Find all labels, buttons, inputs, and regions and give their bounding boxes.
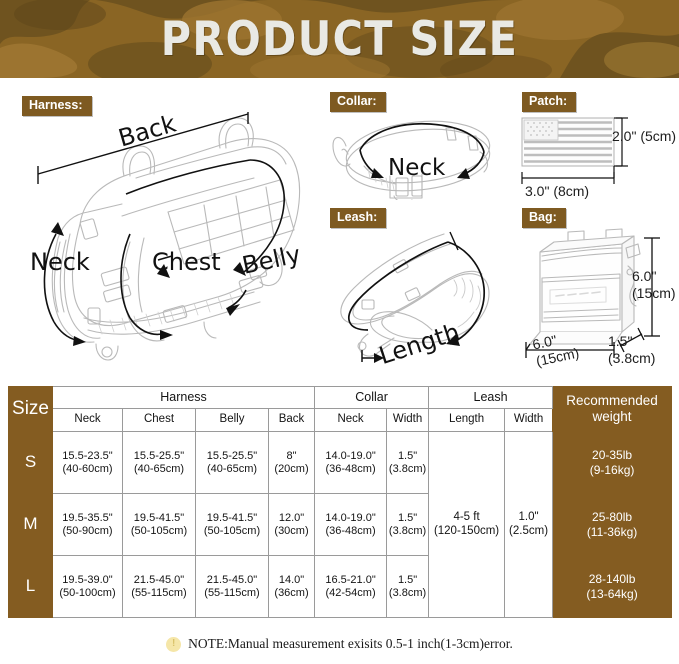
cell-leash-length-merged: 4-5 ft (120-150cm) bbox=[429, 432, 505, 618]
value-cm: (50-105cm) bbox=[204, 525, 260, 537]
value-inch: 19.5-41.5" bbox=[134, 512, 184, 524]
cell-s-harness-neck: 15.5-23.5" (40-60cm) bbox=[53, 432, 123, 494]
value-weight-lb: 25-80lb bbox=[592, 510, 632, 524]
value-inch: 14.0-19.0" bbox=[325, 450, 375, 462]
value-inch: 1.5" bbox=[398, 450, 417, 462]
value-cm: (40-65cm) bbox=[207, 463, 257, 475]
value-cm: (42-54cm) bbox=[325, 587, 375, 599]
cell-m-harness-back: 12.0" (30cm) bbox=[269, 494, 315, 556]
row-size-m: M bbox=[9, 494, 53, 556]
table-row: L 19.5-39.0" (50-100cm) 21.5-45.0" (55-1… bbox=[9, 556, 672, 618]
harness-chest-label: Chest bbox=[152, 248, 221, 276]
leash-badge: Leash: bbox=[330, 208, 386, 228]
row-size-s: S bbox=[9, 432, 53, 494]
value-cm: (55-115cm) bbox=[131, 587, 186, 599]
bag-depth-dimension: 1.5" (3.8cm) bbox=[608, 333, 655, 367]
value-inch: 1.5" bbox=[398, 512, 417, 524]
cell-m-harness-belly: 19.5-41.5" (50-105cm) bbox=[196, 494, 269, 556]
value-leash-width-cm: (2.5cm) bbox=[509, 525, 548, 537]
value-cm: (3.8cm) bbox=[389, 587, 426, 599]
note-text: NOTE:Manual measurement exisits 0.5-1 in… bbox=[188, 636, 513, 652]
cell-l-harness-neck: 19.5-39.0" (50-100cm) bbox=[53, 556, 123, 618]
value-leash-length-ft: 4-5 ft bbox=[453, 511, 479, 523]
value-inch: 19.5-39.0" bbox=[62, 574, 112, 586]
subheader-leash-length: Length bbox=[429, 409, 505, 432]
value-leash-length-cm: (120-150cm) bbox=[434, 525, 499, 537]
value-cm: (36cm) bbox=[274, 587, 308, 599]
cell-l-harness-chest: 21.5-45.0" (55-115cm) bbox=[123, 556, 196, 618]
table-row: S 15.5-23.5" (40-60cm) 15.5-25.5" (40-65… bbox=[9, 432, 672, 494]
value-cm: (55-115cm) bbox=[204, 587, 259, 599]
recommended-weight-header-line1: Recommended bbox=[566, 393, 658, 408]
cell-m-collar-width: 1.5" (3.8cm) bbox=[387, 494, 429, 556]
bag-depth-line1: 1.5" bbox=[608, 333, 632, 349]
cell-s-harness-belly: 15.5-25.5" (40-65cm) bbox=[196, 432, 269, 494]
value-inch: 15.5-25.5" bbox=[207, 450, 257, 462]
cell-l-recommended-weight: 28-140lb (13-64kg) bbox=[553, 556, 672, 618]
cell-s-harness-back: 8" (20cm) bbox=[269, 432, 315, 494]
table-header-group-row: Size Harness Collar Leash Recommended we… bbox=[9, 387, 672, 409]
leash-group-header: Leash bbox=[429, 387, 553, 409]
product-size-page: PRODUCT SIZE Harness: bbox=[0, 0, 679, 664]
cell-m-collar-neck: 14.0-19.0" (36-48cm) bbox=[315, 494, 387, 556]
cell-s-harness-chest: 15.5-25.5" (40-65cm) bbox=[123, 432, 196, 494]
value-inch: 21.5-45.0" bbox=[207, 574, 257, 586]
value-cm: (40-60cm) bbox=[62, 463, 112, 475]
bag-height-line2: (15cm) bbox=[632, 285, 676, 301]
warning-icon: ! bbox=[166, 637, 181, 652]
patch-height-dimension: 2.0" (5cm) bbox=[612, 128, 676, 144]
value-inch: 12.0" bbox=[279, 512, 304, 524]
bag-depth-line2: (3.8cm) bbox=[608, 350, 655, 366]
patch-badge: Patch: bbox=[522, 92, 576, 112]
value-inch: 21.5-45.0" bbox=[134, 574, 184, 586]
page-title: PRODUCT SIZE bbox=[41, 0, 639, 78]
value-inch: 15.5-25.5" bbox=[134, 450, 184, 462]
value-inch: 14.0-19.0" bbox=[325, 512, 375, 524]
harness-group-header: Harness bbox=[53, 387, 315, 409]
subheader-collar-width: Width bbox=[387, 409, 429, 432]
value-weight-lb: 20-35lb bbox=[592, 448, 632, 462]
cell-l-harness-belly: 21.5-45.0" (55-115cm) bbox=[196, 556, 269, 618]
value-inch: 1.5" bbox=[398, 574, 417, 586]
subheader-harness-chest: Chest bbox=[123, 409, 196, 432]
cell-leash-width-merged: 1.0" (2.5cm) bbox=[505, 432, 553, 618]
cell-m-harness-neck: 19.5-35.5" (50-90cm) bbox=[53, 494, 123, 556]
collar-group-header: Collar bbox=[315, 387, 429, 409]
value-leash-width-inch: 1.0" bbox=[519, 511, 539, 523]
value-inch: 8" bbox=[287, 450, 297, 462]
harness-neck-label: Neck bbox=[30, 248, 90, 276]
bag-badge: Bag: bbox=[522, 208, 566, 228]
value-cm: (50-100cm) bbox=[59, 587, 115, 599]
value-cm: (50-105cm) bbox=[131, 525, 187, 537]
patch-diagram bbox=[518, 114, 678, 188]
value-inch: 16.5-21.0" bbox=[325, 574, 375, 586]
recommended-weight-header-line2: weight bbox=[593, 409, 632, 424]
value-inch: 19.5-35.5" bbox=[62, 512, 112, 524]
value-cm: (20cm) bbox=[274, 463, 308, 475]
size-table: Size Harness Collar Leash Recommended we… bbox=[8, 386, 672, 618]
subheader-collar-neck: Neck bbox=[315, 409, 387, 432]
value-weight-kg: (11-36kg) bbox=[587, 525, 637, 539]
value-cm: (36-48cm) bbox=[325, 463, 375, 475]
cell-l-collar-neck: 16.5-21.0" (42-54cm) bbox=[315, 556, 387, 618]
subheader-leash-width: Width bbox=[505, 409, 553, 432]
bag-height-dimension: 6.0" (15cm) bbox=[632, 268, 676, 302]
value-inch: 19.5-41.5" bbox=[207, 512, 257, 524]
table-row: M 19.5-35.5" (50-90cm) 19.5-41.5" (50-10… bbox=[9, 494, 672, 556]
note-row: ! NOTE:Manual measurement exisits 0.5-1 … bbox=[0, 636, 679, 652]
value-cm: (30cm) bbox=[274, 525, 308, 537]
cell-s-recommended-weight: 20-35lb (9-16kg) bbox=[553, 432, 672, 494]
value-cm: (3.8cm) bbox=[389, 463, 426, 475]
value-cm: (3.8cm) bbox=[389, 525, 426, 537]
value-weight-lb: 28-140lb bbox=[589, 572, 636, 586]
cell-m-harness-chest: 19.5-41.5" (50-105cm) bbox=[123, 494, 196, 556]
value-cm: (36-48cm) bbox=[325, 525, 375, 537]
collar-neck-label: Neck bbox=[388, 155, 445, 181]
value-weight-kg: (9-16kg) bbox=[590, 463, 635, 477]
cell-s-collar-neck: 14.0-19.0" (36-48cm) bbox=[315, 432, 387, 494]
cell-l-collar-width: 1.5" (3.8cm) bbox=[387, 556, 429, 618]
value-cm: (40-65cm) bbox=[134, 463, 184, 475]
cell-s-collar-width: 1.5" (3.8cm) bbox=[387, 432, 429, 494]
value-inch: 14.0" bbox=[279, 574, 304, 586]
row-size-l: L bbox=[9, 556, 53, 618]
value-weight-kg: (13-64kg) bbox=[586, 587, 637, 601]
cell-l-harness-back: 14.0" (36cm) bbox=[269, 556, 315, 618]
cell-m-recommended-weight: 25-80lb (11-36kg) bbox=[553, 494, 672, 556]
value-cm: (50-90cm) bbox=[62, 525, 112, 537]
collar-badge: Collar: bbox=[330, 92, 386, 112]
subheader-harness-belly: Belly bbox=[196, 409, 269, 432]
subheader-harness-neck: Neck bbox=[53, 409, 123, 432]
size-column-header: Size bbox=[9, 387, 53, 432]
patch-width-dimension: 3.0" (8cm) bbox=[525, 183, 589, 199]
bag-height-line1: 6.0" bbox=[632, 268, 656, 284]
recommended-weight-header: Recommended weight bbox=[553, 387, 672, 432]
subheader-harness-back: Back bbox=[269, 409, 315, 432]
header-banner: PRODUCT SIZE bbox=[0, 0, 679, 78]
value-inch: 15.5-23.5" bbox=[62, 450, 112, 462]
